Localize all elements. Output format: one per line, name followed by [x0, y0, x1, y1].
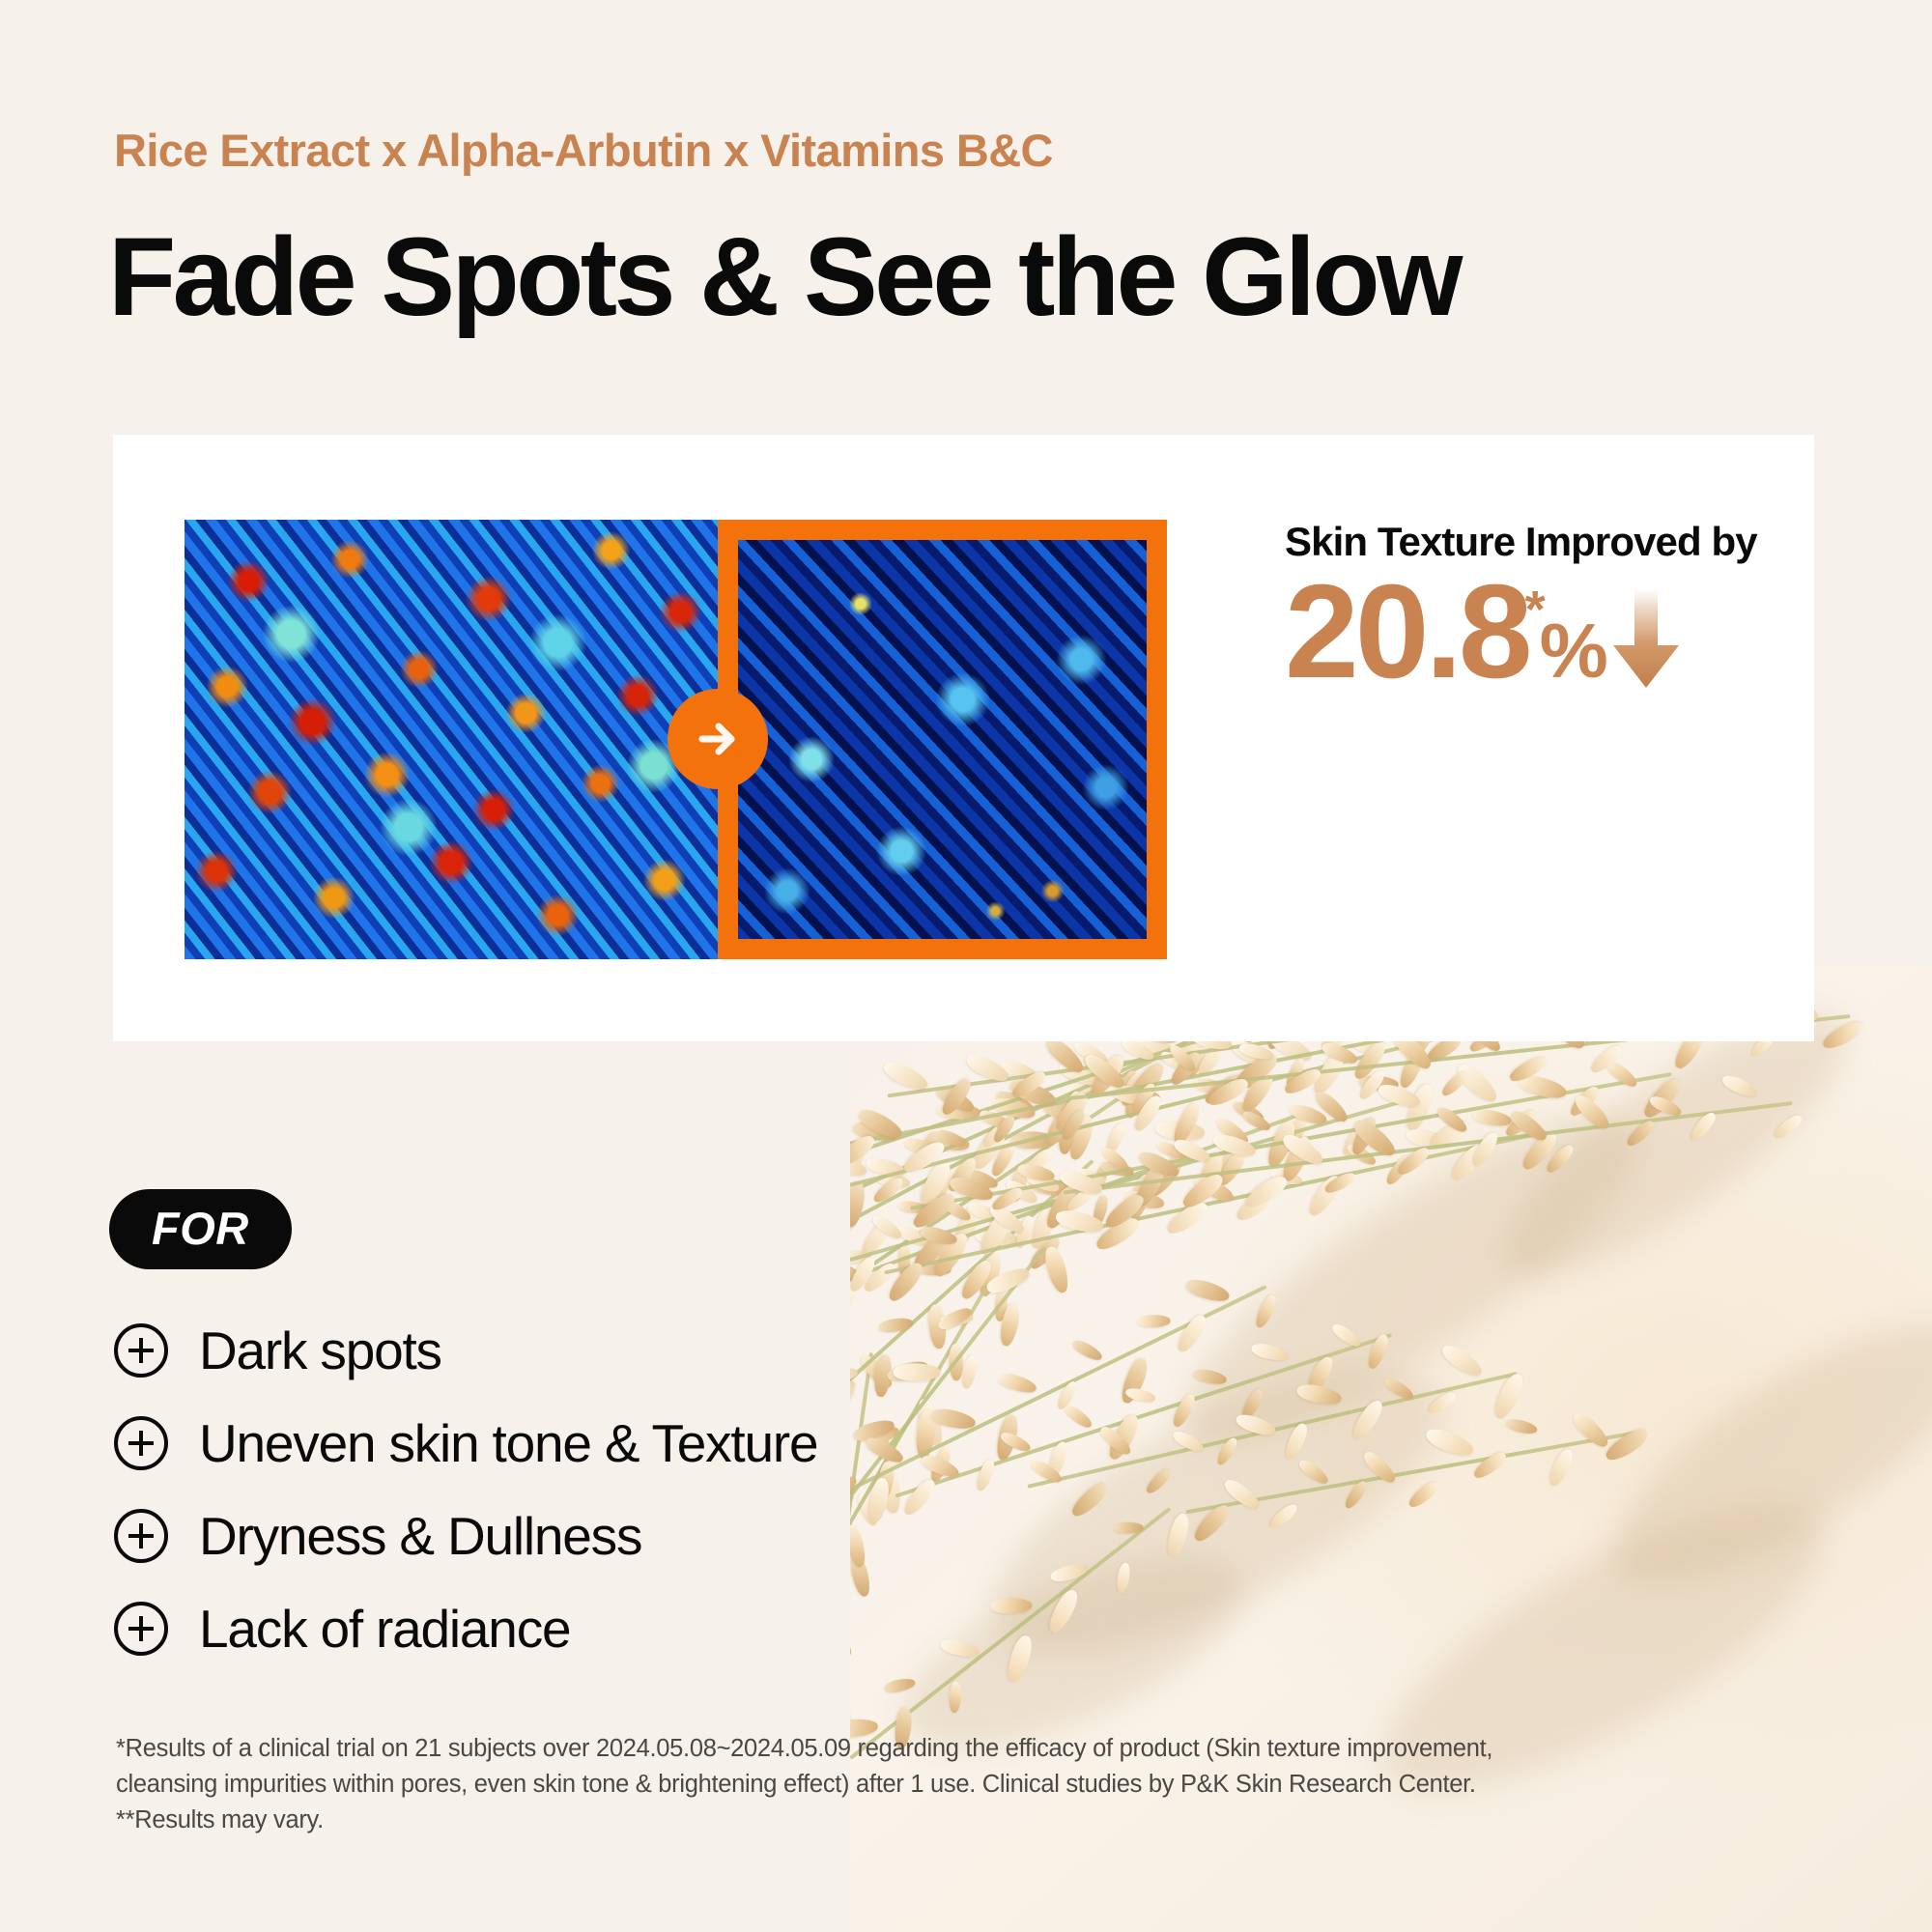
rice-stem [850, 1005, 1267, 1292]
rice-grain [1065, 1184, 1097, 1214]
rice-grain [966, 1200, 1005, 1227]
rice-grain [878, 1316, 914, 1333]
rice-grain [1080, 1050, 1124, 1085]
rice-grain [1170, 1391, 1198, 1429]
rice-grain [961, 1166, 999, 1191]
rice-grain [976, 1252, 1004, 1298]
rice-grain [1056, 1113, 1076, 1155]
rice-grain [866, 1155, 908, 1179]
rice-stem [850, 1092, 1431, 1297]
rice-grain [1114, 1069, 1139, 1104]
rice-grain [1264, 1119, 1299, 1171]
rice-grain [897, 1200, 928, 1214]
rice-grain [1004, 1177, 1040, 1206]
rice-grain [1164, 1512, 1192, 1559]
rice-grain [1238, 1041, 1275, 1063]
rice-grain [858, 1218, 895, 1259]
rice-grain [1439, 1069, 1470, 1099]
rice-stem [850, 1507, 1171, 1760]
rice-grain [1435, 1103, 1470, 1135]
rice-grain [1269, 1168, 1302, 1187]
rice-stem [1027, 1372, 1518, 1489]
rice-grain [1191, 1367, 1227, 1386]
rice-grain [1395, 1145, 1433, 1179]
rice-grain [1098, 1159, 1134, 1179]
rice-grain [869, 1212, 904, 1242]
rice-grain [1356, 1067, 1387, 1102]
rice-grain [1221, 1476, 1263, 1513]
rice-grain [1072, 1039, 1110, 1068]
rice-grain [994, 1087, 1037, 1117]
rice-grain [1279, 1133, 1316, 1183]
rice-grain [997, 1371, 1038, 1396]
rice-grain [1720, 1072, 1760, 1100]
rice-grain [1350, 1039, 1389, 1083]
rice-grain [1295, 1381, 1343, 1407]
rice-grain [927, 1304, 948, 1350]
rice-grain [850, 1250, 870, 1264]
rice-grain [850, 1625, 855, 1659]
rice-grain [850, 1145, 868, 1180]
rice-grain [1338, 1116, 1377, 1160]
rice-grain [1062, 1402, 1094, 1431]
rice-grain [850, 1554, 872, 1599]
rice-grain [1350, 1116, 1400, 1161]
rice-grain [974, 1457, 997, 1492]
rice-grain [1587, 1042, 1625, 1076]
rice-grain [850, 1366, 859, 1384]
rice-grain [940, 1636, 980, 1660]
page-title: Fade Spots & See the Glow [108, 222, 1460, 333]
rice-grain [1194, 1150, 1228, 1201]
rice-grain [1029, 1176, 1073, 1199]
rice-grain [882, 1676, 915, 1694]
rice-grain [1280, 1116, 1310, 1154]
rice-grain [900, 1137, 948, 1177]
benefit-item: Dark spots [114, 1304, 817, 1397]
benefit-item: Uneven skin tone & Texture [114, 1397, 817, 1490]
rice-grain [850, 1693, 854, 1727]
rice-grain [909, 1190, 958, 1233]
rice-grain [1507, 1054, 1548, 1086]
rice-grain [850, 1278, 861, 1323]
rice-grain [1546, 1446, 1576, 1489]
stat-value-row: 20.8 * % [1285, 570, 1797, 696]
rice-stem [1185, 1430, 1642, 1514]
rice-grain [1640, 1075, 1686, 1122]
rice-grain [1820, 1018, 1865, 1053]
rice-grain [940, 1197, 973, 1224]
rice-grain [1382, 1376, 1416, 1403]
arrow-down-icon [1608, 587, 1684, 692]
rice-grain [1427, 1118, 1471, 1152]
rice-grain [1154, 1119, 1206, 1142]
rice-grain [945, 1154, 980, 1194]
rice-grain [1280, 1130, 1327, 1169]
rice-grain [950, 1344, 964, 1380]
rice-grain [1242, 1172, 1291, 1212]
before-skin-texture-heatmap [185, 520, 718, 959]
rice-grain [1096, 1424, 1133, 1459]
rice-grain [1771, 1112, 1804, 1142]
rice-grain [1087, 1052, 1128, 1100]
rice-grain [1502, 1107, 1538, 1140]
rice-grain [1322, 1170, 1357, 1197]
rice-grain [851, 1120, 898, 1145]
rice-grain [1232, 1050, 1281, 1093]
rice-grain [1113, 1522, 1143, 1534]
rice-grain [863, 1424, 900, 1447]
rice-grain [1049, 1561, 1089, 1584]
rice-grain [850, 1474, 858, 1494]
rice-grain [1426, 1389, 1459, 1416]
rice-grain [1349, 1397, 1386, 1442]
rice-grain [980, 1120, 1011, 1151]
rice-grain [1238, 1386, 1266, 1422]
arrow-right-icon [668, 689, 768, 789]
rice-stem [884, 1130, 1547, 1274]
rice-grain [929, 1406, 977, 1432]
rice-grain [988, 1141, 1017, 1179]
rice-grain [1383, 1153, 1414, 1188]
rice-grain [1454, 1059, 1502, 1105]
rice-grain [1042, 1182, 1081, 1232]
disclaimer: *Results of a clinical trial on 21 subje… [116, 1731, 1758, 1839]
rice-grain [1603, 1425, 1651, 1464]
benefit-item: Lack of radiance [114, 1582, 817, 1675]
rice-shadow [1578, 1280, 1932, 1628]
stat-label: Skin Texture Improved by [1285, 48, 1797, 564]
rice-grain [1028, 1203, 1061, 1252]
rice-grain [873, 1353, 894, 1398]
rice-grain [1022, 1146, 1057, 1179]
rice-grain [1137, 1314, 1171, 1327]
rice-grain [923, 1128, 971, 1154]
rice-grain [939, 1311, 973, 1327]
rice-grain [858, 1351, 896, 1391]
rice-grain [876, 1461, 896, 1501]
rice-grain [850, 1261, 860, 1281]
rice-grain [1104, 1412, 1143, 1463]
rice-grain [850, 1180, 867, 1228]
rice-grain [994, 1413, 1021, 1462]
rice-grain [1183, 1276, 1231, 1305]
rice-grain [1067, 1479, 1110, 1520]
rice-grain [850, 1376, 859, 1423]
rice-grain [1045, 1587, 1082, 1636]
rice-shadow [952, 1313, 1482, 1711]
rice-grain [850, 1479, 853, 1496]
rice-grain [1211, 1142, 1246, 1188]
rice-grain [1472, 1107, 1513, 1128]
rice-grain [989, 1184, 1025, 1213]
stat-block: Skin Texture Improved by 20.8 * % [1285, 520, 1797, 696]
rice-grain [1282, 1421, 1311, 1462]
rice-grain [978, 1107, 1013, 1132]
rice-grain [1193, 1075, 1232, 1097]
rice-grain [1000, 1059, 1037, 1082]
rice-grain [1074, 1165, 1107, 1187]
rice-grain [929, 1230, 972, 1281]
rice-grain [1171, 1136, 1212, 1166]
rice-grain [1507, 1107, 1549, 1145]
rice-grain [1164, 1198, 1212, 1238]
rice-grain [1099, 1145, 1130, 1173]
rice-grain [1342, 1479, 1369, 1511]
rice-grain [928, 1445, 954, 1484]
rice-grain [998, 1302, 1022, 1348]
rice-grain [1424, 1424, 1476, 1459]
rice-grain [850, 1254, 878, 1294]
rice-grain [1321, 1039, 1360, 1067]
rice-grain [1365, 1332, 1391, 1371]
rice-stem [850, 1285, 988, 1739]
rice-grain [1312, 1088, 1351, 1125]
benefits-list: Dark spotsUneven skin tone & TextureDryn… [114, 1304, 817, 1675]
rice-grain [850, 1212, 855, 1233]
rice-grain [1190, 1501, 1234, 1546]
rice-grain [1104, 1122, 1128, 1156]
rice-grain [1054, 1207, 1105, 1235]
rice-grain [850, 1152, 868, 1179]
rice-grain [850, 1491, 854, 1507]
rice-grain [1567, 1083, 1602, 1119]
rice-grain [1405, 1126, 1449, 1151]
rice-grain [1330, 1321, 1364, 1350]
rice-grain [990, 1598, 1032, 1614]
rice-grain [1070, 1337, 1104, 1363]
rice-grain [1124, 1386, 1156, 1404]
stat-unit: % [1540, 612, 1606, 690]
rice-grain [1505, 1416, 1539, 1435]
rice-grain [1376, 1081, 1422, 1111]
rice-grain [909, 1228, 955, 1272]
rice-grain [1060, 1089, 1086, 1130]
rice-grain [867, 1477, 892, 1524]
rice-grain [1491, 1370, 1527, 1421]
rice-grain [1195, 1041, 1228, 1079]
rice-grain [1282, 1065, 1323, 1097]
rice-grain [1065, 1065, 1100, 1084]
rice-grain [1406, 1478, 1440, 1510]
rice-grain [1572, 1092, 1614, 1133]
rice-grain [957, 1257, 995, 1302]
rice-grain [998, 1430, 1032, 1455]
rice-grain [1009, 1068, 1048, 1101]
rice-grain [993, 1290, 1008, 1322]
rice-grain [915, 1410, 937, 1460]
rice-stem [850, 1159, 1094, 1563]
rice-grain [991, 1094, 1037, 1122]
rice-grain [1115, 1562, 1131, 1594]
rice-grain [1439, 1341, 1486, 1379]
rice-grain [933, 1083, 977, 1116]
rice-grain [1055, 1378, 1080, 1411]
rice-grain [1041, 1098, 1085, 1124]
rice-grain [1058, 1168, 1105, 1199]
benefit-item: Dryness & Dullness [114, 1490, 817, 1582]
rice-grain [916, 1130, 941, 1170]
rice-grain [1238, 1066, 1278, 1115]
benefit-label: Dryness & Dullness [199, 1505, 641, 1567]
rice-grain [873, 1169, 912, 1190]
rice-grain [850, 1416, 895, 1444]
rice-grain [1118, 1356, 1151, 1406]
rice-grain [1026, 1235, 1063, 1273]
rice-grain [850, 1523, 868, 1569]
rice-grain [1215, 1148, 1249, 1188]
rice-grain [1132, 1161, 1170, 1210]
rice-grain [1518, 1072, 1569, 1102]
rice-grain [1648, 1094, 1684, 1120]
rice-grain [1191, 1173, 1236, 1207]
rice-grain [1543, 1142, 1576, 1176]
rice-grain [1604, 1058, 1639, 1090]
rice-grain [949, 1681, 962, 1713]
rice-grain [934, 1127, 967, 1150]
rice-grain [1122, 1188, 1165, 1211]
benefit-label: Uneven skin tone & Texture [199, 1412, 817, 1474]
rice-grain [1396, 1047, 1427, 1091]
rice-grain [1008, 1163, 1031, 1204]
rice-grain [1569, 1408, 1611, 1451]
rice-grain [960, 1353, 980, 1389]
for-badge: FOR [109, 1189, 292, 1269]
rice-grain [1136, 1148, 1181, 1180]
disclaimer-line-3: **Results may vary. [116, 1803, 1758, 1838]
rice-grain [1305, 1172, 1346, 1219]
rice-grain [1081, 1050, 1128, 1093]
plus-circle-icon [114, 1602, 168, 1656]
rice-stem [850, 1034, 1200, 1381]
stat-value: 20.8 [1285, 570, 1529, 696]
rice-grain [1143, 1152, 1186, 1201]
rice-grain [1303, 1353, 1336, 1397]
rice-grain [918, 1224, 957, 1247]
benefit-label: Dark spots [199, 1320, 441, 1381]
rice-grain [1231, 1098, 1266, 1124]
results-card: Skin Texture Improved by 20.8 * % [113, 435, 1814, 1041]
rice-grain [916, 1158, 954, 1209]
rice-grain [1624, 1118, 1657, 1150]
rice-grain [1234, 1186, 1279, 1225]
rice-stem [850, 1082, 1142, 1463]
rice-grain [903, 1136, 942, 1158]
rice-grain [1124, 1172, 1155, 1221]
rice-grain [976, 1207, 1016, 1259]
rice-grain [855, 1492, 880, 1527]
rice-grain [1057, 1058, 1105, 1090]
rice-grain [991, 1113, 1018, 1145]
rice-grain [1240, 1108, 1272, 1133]
rice-grain [1250, 1342, 1290, 1364]
rice-grain [894, 1363, 941, 1381]
rice-grain [878, 1464, 903, 1515]
rice-grain [1403, 1082, 1437, 1133]
rice-grain [1349, 1115, 1379, 1157]
rice-grain [901, 1476, 940, 1519]
rice-grain [1052, 1090, 1093, 1135]
rice-stem [895, 1333, 1392, 1498]
rice-grain [1170, 1101, 1204, 1148]
rice-grain [870, 1175, 905, 1206]
rice-grain [1122, 1073, 1152, 1121]
rice-grain [862, 1259, 899, 1294]
rice-grain [1310, 1049, 1350, 1097]
rice-grain [1007, 1076, 1058, 1111]
rice-stem [850, 1111, 1305, 1326]
benefit-label: Lack of radiance [199, 1598, 570, 1660]
rice-grain [1042, 1100, 1081, 1148]
rice-grain [1214, 1435, 1239, 1467]
rice-grain [936, 1304, 974, 1332]
rice-grain [1174, 1312, 1209, 1355]
rice-grain [1210, 1131, 1257, 1160]
rice-grain [1144, 1465, 1174, 1495]
rice-grain [1091, 1194, 1110, 1228]
rice-grain [1288, 1101, 1329, 1127]
rice-grain [1202, 1070, 1246, 1108]
rice-grain [1130, 1093, 1164, 1134]
rice-grain [969, 1123, 1010, 1173]
rice-grain [939, 1076, 976, 1119]
rice-grain [1213, 1115, 1251, 1148]
rice-grain [1687, 1109, 1719, 1144]
rice-grain [863, 1435, 906, 1467]
rice-grain [1519, 1129, 1561, 1174]
rice-grain [1253, 1293, 1280, 1329]
rice-grain [1184, 1042, 1209, 1079]
rice-grain [1296, 1457, 1331, 1487]
rice-grain [1093, 1213, 1143, 1254]
before-after-comparison [185, 520, 1167, 959]
after-skin-texture-heatmap [718, 520, 1167, 959]
rice-grain [1468, 1130, 1501, 1171]
rice-grain [1112, 1084, 1161, 1109]
rice-grain [1004, 1634, 1036, 1685]
rice-grain [1167, 1042, 1199, 1074]
rice-grain [1065, 1085, 1096, 1098]
rice-grain [898, 1244, 912, 1277]
rice-grain [920, 1166, 956, 1213]
rice-grain [1235, 1411, 1278, 1439]
eyebrow-ingredients: Rice Extract x Alpha-Arbutin x Vitamins … [114, 124, 1053, 177]
rice-grain [1284, 1056, 1308, 1088]
rice-grain [1155, 1139, 1188, 1162]
rice-grain [1066, 1114, 1097, 1162]
rice-grain [895, 1222, 932, 1249]
rice-stem [850, 1285, 1267, 1525]
rice-grain [1042, 1244, 1072, 1294]
rice-grain [1029, 1457, 1065, 1486]
rice-grain [1266, 1501, 1300, 1532]
rice-grain [1358, 1074, 1399, 1093]
rice-grain [1159, 1048, 1194, 1074]
rice-grain [936, 1101, 980, 1121]
rice-grain [1448, 1141, 1490, 1184]
rice-grain [885, 1259, 927, 1305]
rice-grain [1045, 1439, 1070, 1479]
rice-stem [1064, 1101, 1793, 1195]
rice-shadow [1146, 1068, 1675, 1492]
plus-circle-icon [114, 1323, 168, 1378]
rice-grain [1168, 1048, 1205, 1088]
rice-grain [1206, 1074, 1251, 1109]
rice-grain [1088, 1163, 1111, 1195]
rice-grain [974, 1227, 1018, 1248]
rice-grain [850, 1131, 878, 1171]
plus-circle-icon [114, 1416, 168, 1470]
